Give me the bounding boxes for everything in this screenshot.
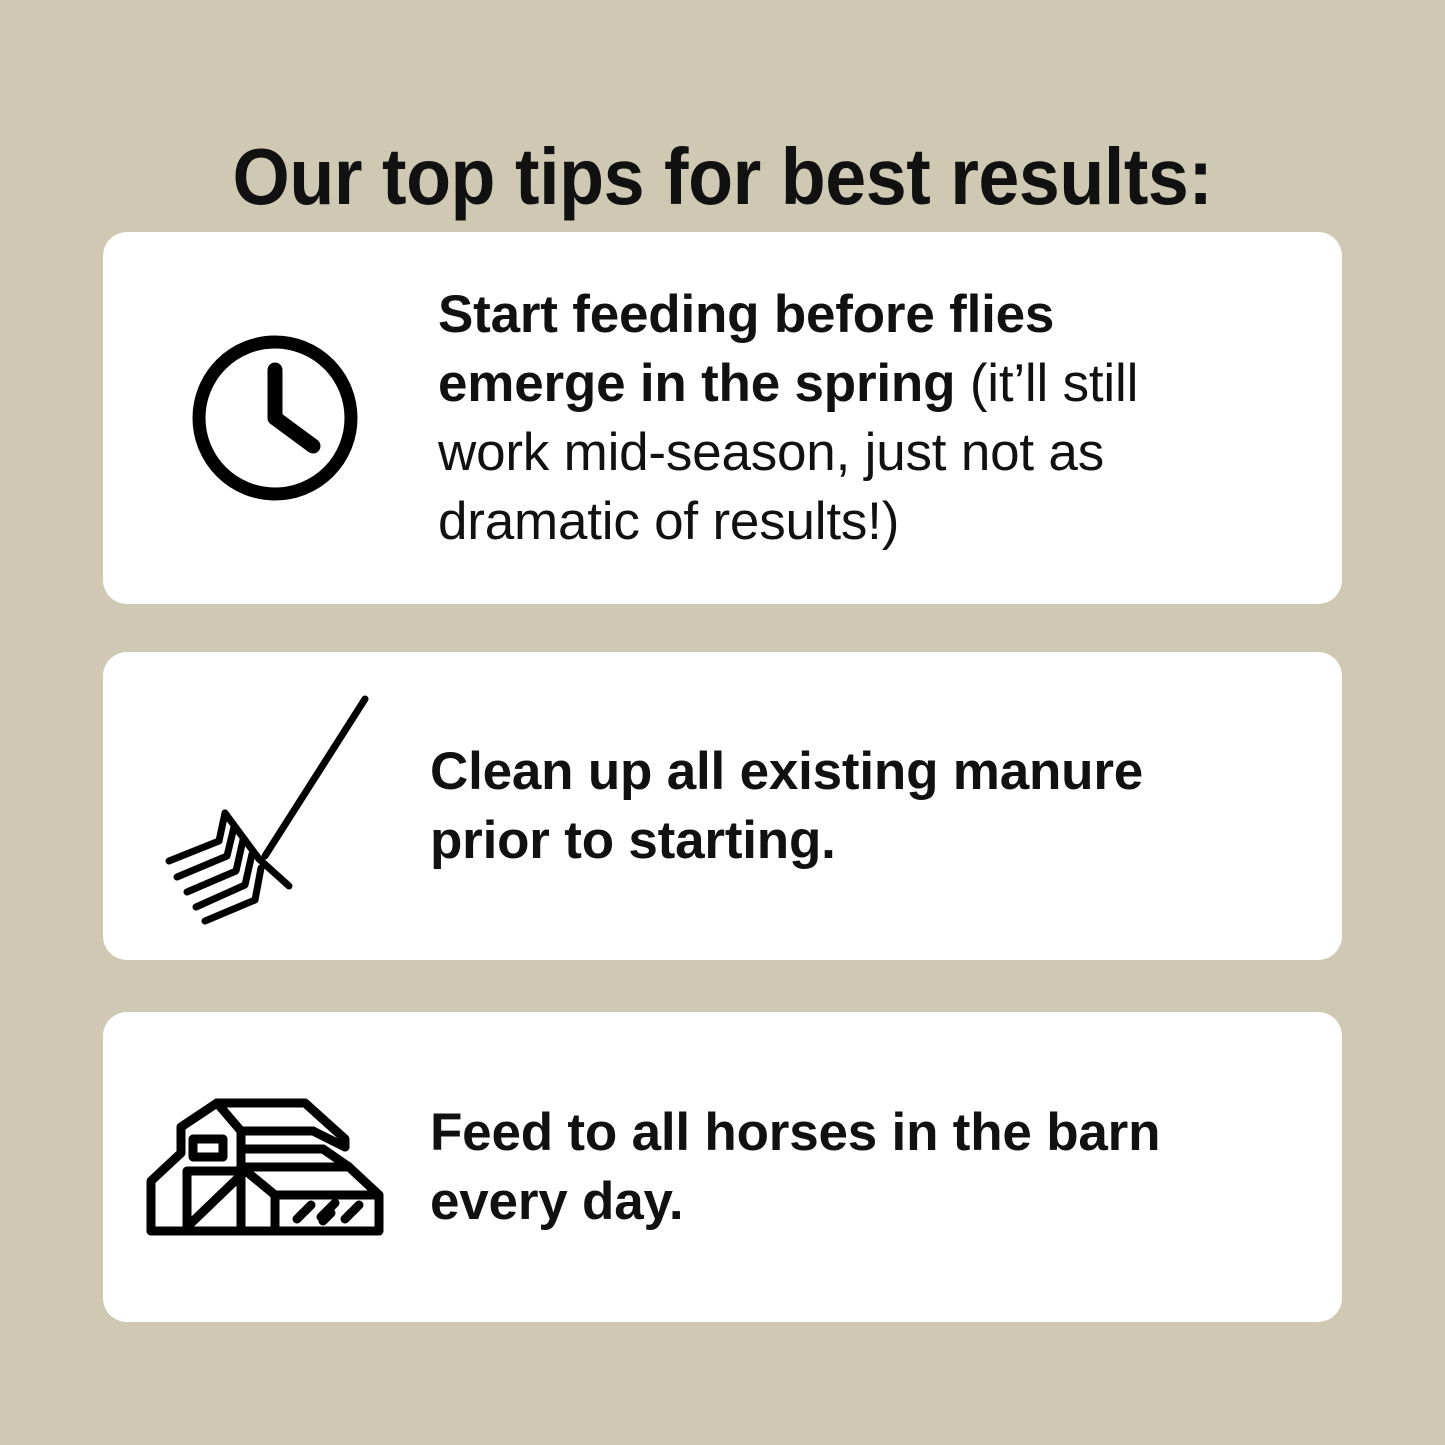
- tip-card-1-text: Start feeding before flies emerge in the…: [438, 280, 1264, 556]
- tip-card-1-icon-slot: [103, 330, 438, 506]
- tip-card-2: Clean up all existing manure prior to st…: [103, 652, 1342, 960]
- tip-card-1-bold: Start feeding before flies emerge in the…: [438, 285, 1054, 413]
- tip-card-2-text: Clean up all existing manure prior to st…: [430, 737, 1296, 875]
- tip-card-3: Feed to all horses in the barn every day…: [103, 1012, 1342, 1322]
- tip-card-2-icon-slot: [103, 681, 430, 931]
- tip-card-3-text: Feed to all horses in the barn every day…: [430, 1098, 1306, 1236]
- page-root: Our top tips for best results: Start fee…: [0, 0, 1445, 1445]
- manure-fork-icon: [147, 681, 387, 931]
- tip-card-1: Start feeding before flies emerge in the…: [103, 232, 1342, 604]
- tip-card-2-bold: Clean up all existing manure prior to st…: [430, 742, 1143, 870]
- page-title: Our top tips for best results:: [58, 132, 1387, 222]
- barn-icon: [145, 1097, 389, 1237]
- tip-card-3-bold: Feed to all horses in the barn every day…: [430, 1103, 1160, 1231]
- tip-card-3-icon-slot: [103, 1097, 430, 1237]
- clock-icon: [187, 330, 363, 506]
